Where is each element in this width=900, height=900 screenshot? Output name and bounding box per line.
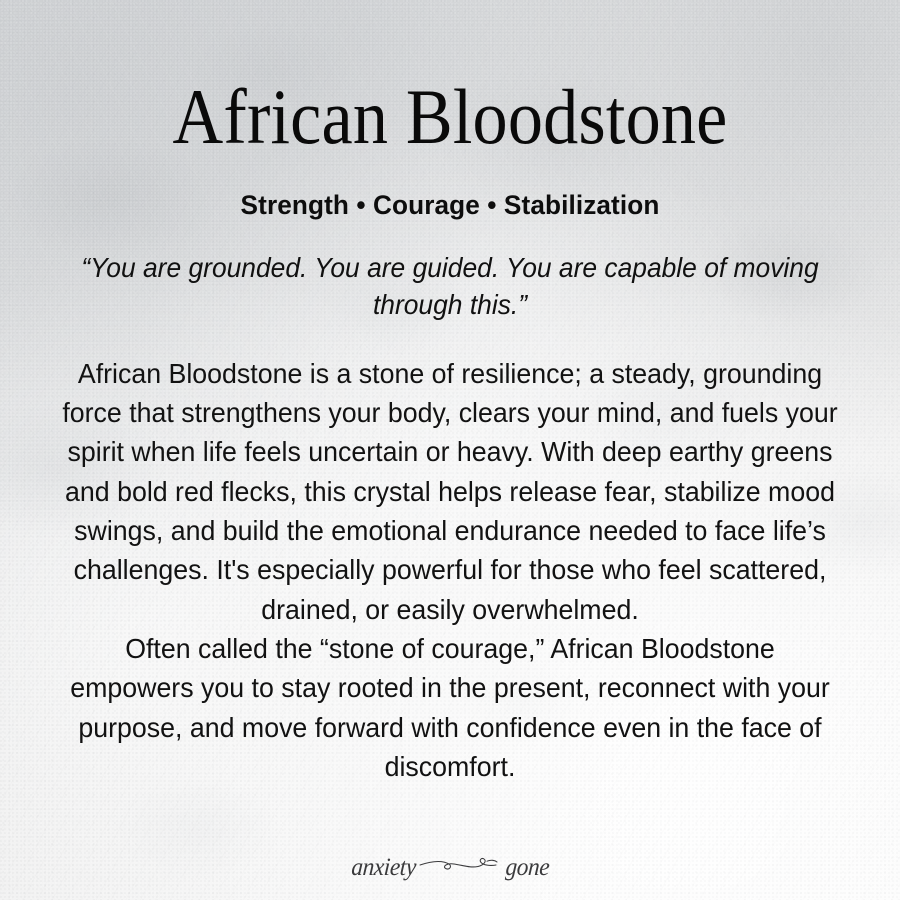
card-content: African Bloodstone Strength • Courage • …	[0, 0, 900, 900]
description-paragraph: African Bloodstone is a stone of resilie…	[62, 354, 837, 629]
description-paragraph: Often called the “stone of courage,” Afr…	[62, 629, 837, 786]
leaf-swash-icon	[418, 854, 504, 880]
keyword-subtitle: Strength • Courage • Stabilization	[43, 156, 858, 219]
brand-logo[interactable]: anxiety gone	[0, 846, 900, 888]
brand-word-gone: gone	[505, 855, 550, 880]
page-title: African Bloodstone	[72, 0, 828, 156]
description-body: African Bloodstone is a stone of resilie…	[62, 324, 837, 787]
brand-word-anxiety: anxiety	[350, 855, 416, 880]
crystal-affirmation-card: African Bloodstone Strength • Courage • …	[0, 0, 900, 900]
affirmation-quote: “You are grounded. You are guided. You a…	[66, 219, 834, 324]
